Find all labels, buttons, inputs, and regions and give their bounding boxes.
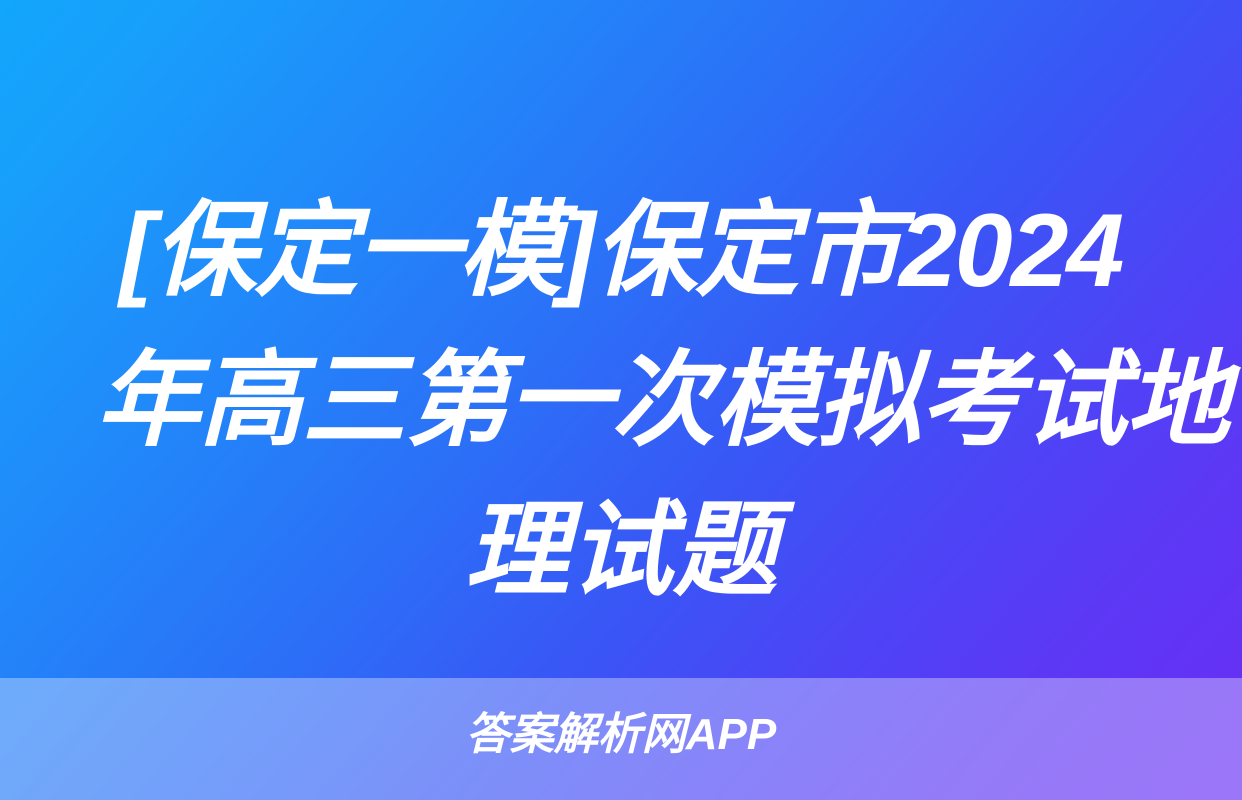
title-line-3: 理试题 (96, 476, 1146, 626)
title-line-2: 年高三第一次模拟考试地 (96, 326, 1146, 476)
title-line-1: [保定一模]保定市2024 (96, 176, 1146, 326)
page-title: [保定一模]保定市2024 年高三第一次模拟考试地 理试题 (0, 176, 1242, 606)
bottom-overlay-band (0, 678, 1242, 800)
exam-title-card: [保定一模]保定市2024 年高三第一次模拟考试地 理试题 答案解析网APP (0, 0, 1242, 800)
